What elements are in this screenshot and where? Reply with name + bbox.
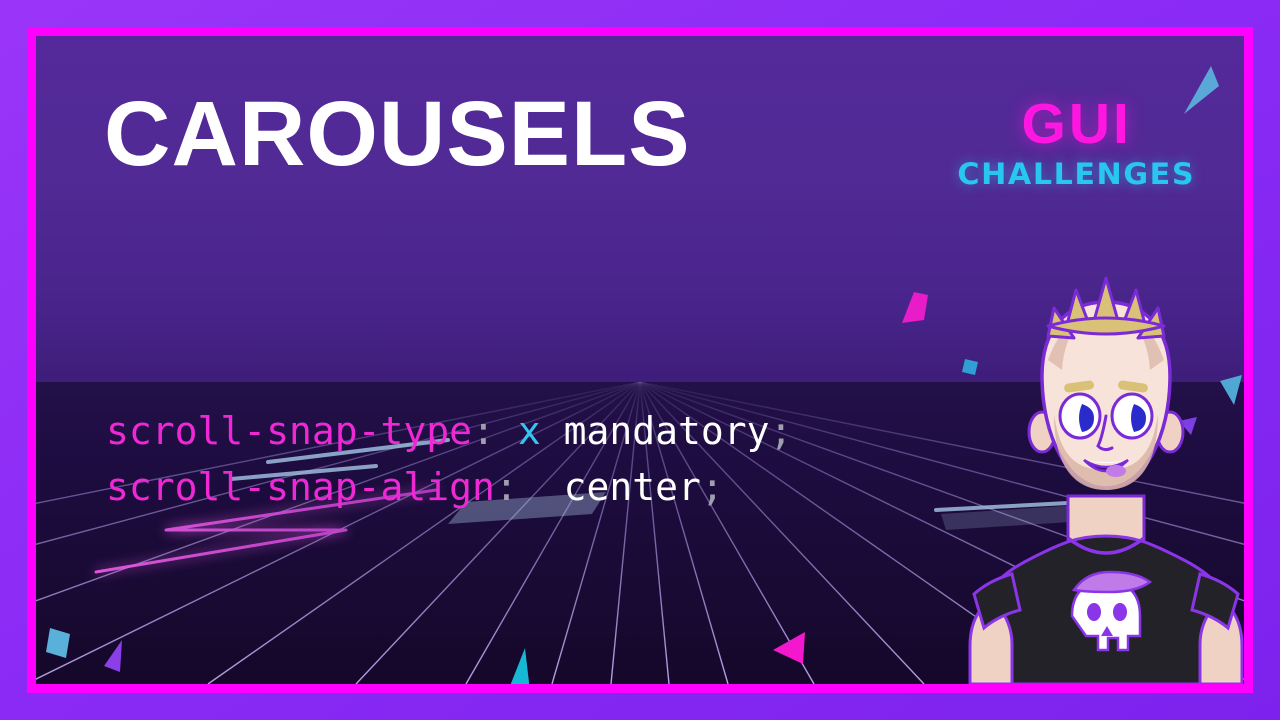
code-line-2: scroll-snap-align: center; (106, 465, 724, 509)
logo-secondary-text: CHALLENGES (958, 160, 1196, 189)
css-colon-2: : (495, 465, 518, 509)
triangle-magenta-bottom (769, 626, 813, 668)
square-blue-bottom-left (44, 626, 76, 666)
gui-challenges-logo: GUI CHALLENGES (962, 96, 1191, 189)
css-semicolon-1: ; (770, 409, 793, 453)
skull-eye-right (1113, 603, 1127, 621)
skull-eye-left (1087, 603, 1101, 621)
neon-frame: CAROUSELS GUI CHALLENGES scroll-snap-typ… (27, 27, 1253, 693)
triangle-blue-top-right (1179, 48, 1219, 118)
avatar-illustration (956, 264, 1244, 684)
quad-magenta (898, 289, 934, 329)
css-property-2: scroll-snap-align (106, 465, 495, 509)
avatar-hair (1048, 278, 1164, 338)
css-value-2: center (564, 465, 701, 509)
triangle-purple-bottom-left (98, 636, 132, 682)
presenter-avatar (956, 264, 1244, 684)
page-title: CAROUSELS (104, 86, 691, 183)
code-snippet: scroll-snap-type: x mandatory; scroll-sn… (106, 403, 792, 515)
css-keyword-1: x (518, 409, 541, 453)
logo-primary-text: GUI (962, 96, 1191, 153)
css-property-1: scroll-snap-type (106, 409, 472, 453)
code-line-1: scroll-snap-type: x mandatory; (106, 409, 792, 453)
css-semicolon-2: ; (701, 465, 724, 509)
css-value-1: mandatory (564, 409, 770, 453)
slide-scene: CAROUSELS GUI CHALLENGES scroll-snap-typ… (36, 36, 1244, 684)
triangle-cyan-bottom (500, 643, 536, 684)
avatar-tongue (1106, 465, 1126, 477)
css-colon-1: : (472, 409, 495, 453)
slide-stage: CAROUSELS GUI CHALLENGES scroll-snap-typ… (0, 0, 1280, 720)
